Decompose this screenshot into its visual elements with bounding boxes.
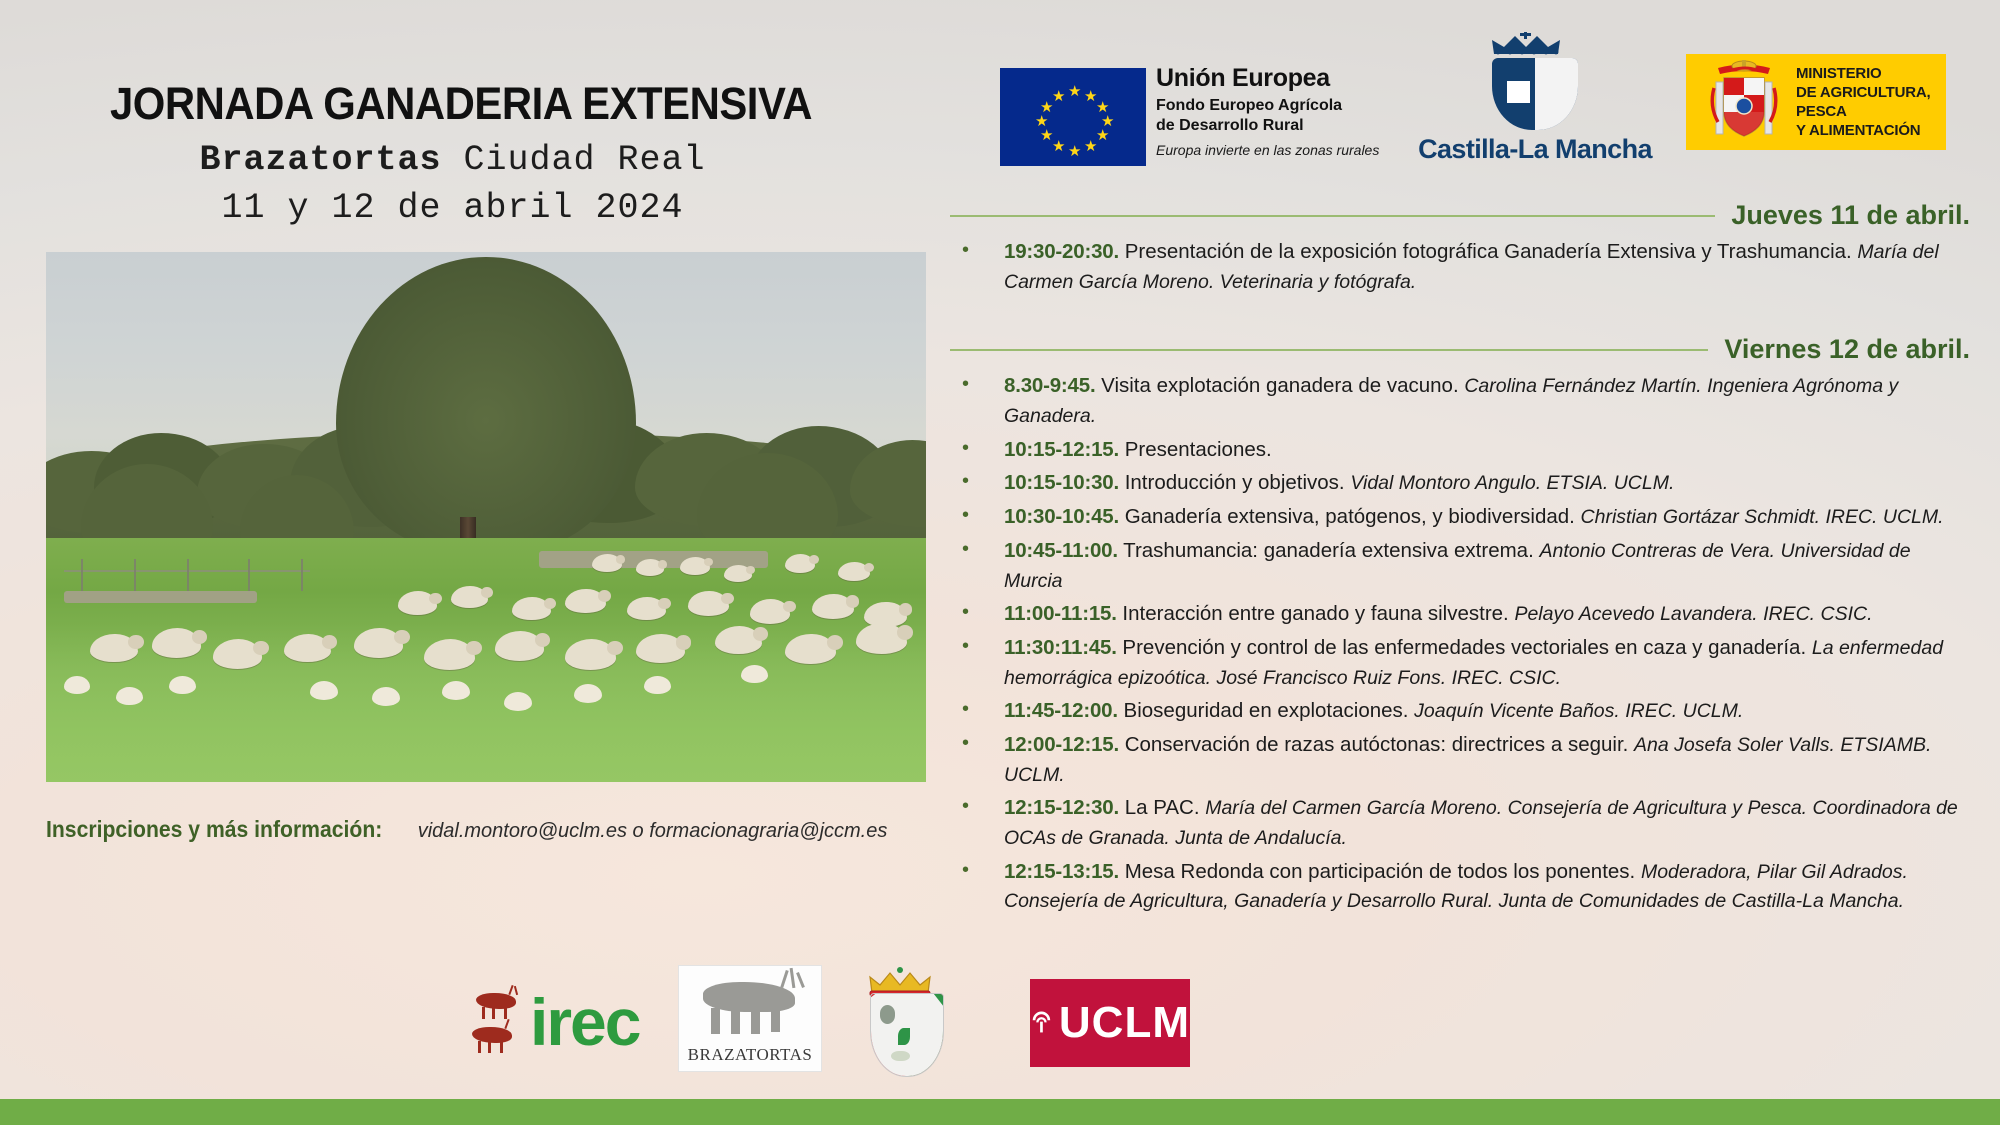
session-description: Introducción y objetivos.	[1119, 471, 1350, 494]
session-description: Presentaciones.	[1119, 438, 1272, 461]
ministry-line1: MINISTERIO	[1796, 64, 1946, 83]
location-line: Brazatortas Ciudad Real	[0, 140, 905, 180]
uclm-mark-icon	[1030, 1003, 1053, 1043]
dehesa-sheep-photo	[46, 252, 926, 782]
brazatortas-wordmark: BRAZATORTAS	[679, 1045, 821, 1065]
eu-flag-icon: ★ ★ ★ ★ ★ ★ ★ ★ ★ ★ ★ ★	[1000, 68, 1146, 166]
contact-emails[interactable]: vidal.montoro@uclm.es o formacionagraria…	[418, 820, 888, 842]
ministry-line3: Y ALIMENTACIÓN	[1796, 121, 1946, 140]
session-description: Presentación de la exposición fotográfic…	[1119, 240, 1857, 263]
footer-accent-bar	[0, 1099, 2000, 1125]
dates-line: 11 y 12 de abril 2024	[0, 188, 905, 228]
session-time: 10:15-10:30.	[1004, 471, 1119, 494]
shield-body	[870, 993, 944, 1077]
day-label: Viernes 12 de abril.	[1724, 334, 1970, 365]
session-description: Prevención y control de las enfermedades…	[1117, 636, 1812, 659]
session-speaker: Joaquín Vicente Baños. IREC. UCLM.	[1414, 700, 1743, 722]
clm-wordmark: Castilla-La Mancha	[1410, 134, 1660, 165]
session-speaker: Pelayo Acevedo Lavandera. IREC. CSIC.	[1514, 603, 1872, 625]
session-item: 12:00-12:15. Conservación de razas autóc…	[950, 730, 1970, 789]
session-description: Ganadería extensiva, patógenos, y biodiv…	[1119, 505, 1581, 528]
castilla-la-mancha-logo: Castilla-La Mancha	[1410, 28, 1660, 168]
day-rule	[950, 215, 1715, 217]
stone-wall	[64, 591, 258, 603]
clm-shield	[1492, 58, 1578, 130]
spain-coat-of-arms-icon	[1702, 60, 1786, 144]
session-item: 10:30-10:45. Ganadería extensiva, patóge…	[950, 502, 1970, 532]
session-speaker: Christian Gortázar Schmidt. IREC. UCLM.	[1581, 506, 1944, 528]
session-item: 10:15-12:15. Presentaciones.	[950, 435, 1970, 465]
uclm-wordmark: UCLM	[1059, 998, 1190, 1048]
schedule: Jueves 11 de abril.19:30-20:30. Presenta…	[950, 200, 1970, 920]
ministry-line2: DE AGRICULTURA, PESCA	[1796, 83, 1946, 121]
session-description: Conservación de razas autóctonas: direct…	[1119, 733, 1634, 756]
eu-fund-line2: de Desarrollo Rural	[1156, 116, 1416, 136]
session-time: 12:15-12:30.	[1004, 796, 1119, 819]
session-description: Interacción entre ganado y fauna silvest…	[1117, 602, 1515, 625]
ministry-logo: MINISTERIO DE AGRICULTURA, PESCA Y ALIME…	[1686, 54, 1946, 150]
sponsor-logos-bottom: irec BRAZATORTAS	[430, 965, 1360, 1085]
session-item: 10:15-10:30. Introducción y objetivos. V…	[950, 468, 1970, 498]
irec-wordmark: irec	[530, 989, 639, 1055]
irec-logo: irec	[470, 987, 680, 1067]
session-time: 11:45-12:00.	[1004, 699, 1118, 722]
session-time: 10:30-10:45.	[1004, 505, 1119, 528]
session-item: 12:15-13:15. Mesa Redonda con participac…	[950, 857, 1970, 916]
eu-title: Unión Europea	[1156, 64, 1416, 93]
section-gap	[950, 300, 1970, 334]
session-time: 12:00-12:15.	[1004, 733, 1119, 756]
session-time: 12:15-13:15.	[1004, 860, 1119, 883]
inscriptions-label: Inscripciones y más información:	[46, 816, 382, 843]
eu-tagline: Europa invierte en las zonas rurales	[1156, 142, 1416, 158]
ministry-text: MINISTERIO DE AGRICULTURA, PESCA Y ALIME…	[1796, 64, 1946, 141]
session-item: 10:45-11:00. Trashumancia: ganadería ext…	[950, 536, 1970, 595]
location-town: Brazatortas	[199, 140, 441, 180]
left-column: JORNADA GANADERIA EXTENSIVA Brazatortas …	[0, 0, 945, 1100]
session-time: 11:30:11:45.	[1004, 636, 1117, 659]
page-title: JORNADA GANADERIA EXTENSIVA	[110, 78, 882, 130]
session-item: 11:30:11:45. Prevención y control de las…	[950, 633, 1970, 692]
session-item: 11:00-11:15. Interacción entre ganado y …	[950, 599, 1970, 629]
session-time: 8.30-9:45.	[1004, 374, 1095, 397]
crown-icon	[1488, 32, 1582, 58]
day-heading: Viernes 12 de abril.	[950, 334, 1970, 365]
uclm-logo: UCLM	[1030, 979, 1190, 1067]
session-time: 10:45-11:00.	[1004, 539, 1118, 562]
session-list: 8.30-9:45. Visita explotación ganadera d…	[950, 371, 1970, 916]
institutional-logos-top: ★ ★ ★ ★ ★ ★ ★ ★ ★ ★ ★ ★ Unión Europea Fo…	[1000, 28, 1960, 176]
session-time: 19:30-20:30.	[1004, 240, 1119, 263]
eu-funding-text: Unión Europea Fondo Europeo Agrícola de …	[1156, 64, 1416, 158]
session-list: 19:30-20:30. Presentación de la exposici…	[950, 237, 1970, 296]
castle-icon	[1507, 81, 1529, 103]
session-time: 11:00-11:15.	[1004, 602, 1117, 625]
session-description: La PAC.	[1119, 796, 1205, 819]
location-province: Ciudad Real	[442, 140, 706, 180]
brazatortas-logo: BRAZATORTAS	[678, 965, 822, 1072]
session-description: Visita explotación ganadera de vacuno.	[1095, 374, 1464, 397]
day-heading: Jueves 11 de abril.	[950, 200, 1970, 231]
session-item: 11:45-12:00. Bioseguridad en explotacion…	[950, 696, 1970, 726]
inscriptions-line: Inscripciones y más información: vidal.m…	[46, 816, 946, 843]
municipality-coat-of-arms	[860, 967, 952, 1079]
session-time: 10:15-12:15.	[1004, 438, 1119, 461]
session-item: 19:30-20:30. Presentación de la exposici…	[950, 237, 1970, 296]
session-speaker: Vidal Montoro Angulo. ETSIA. UCLM.	[1350, 472, 1674, 494]
day-label: Jueves 11 de abril.	[1731, 200, 1970, 231]
session-item: 8.30-9:45. Visita explotación ganadera d…	[950, 371, 1970, 430]
session-item: 12:15-12:30. La PAC. María del Carmen Ga…	[950, 793, 1970, 852]
session-description: Bioseguridad en explotaciones.	[1118, 699, 1414, 722]
eu-fund-line1: Fondo Europeo Agrícola	[1156, 96, 1416, 116]
day-rule	[950, 349, 1708, 351]
session-description: Mesa Redonda con participación de todos …	[1119, 860, 1641, 883]
session-description: Trashumancia: ganadería extensiva extrem…	[1118, 539, 1540, 562]
